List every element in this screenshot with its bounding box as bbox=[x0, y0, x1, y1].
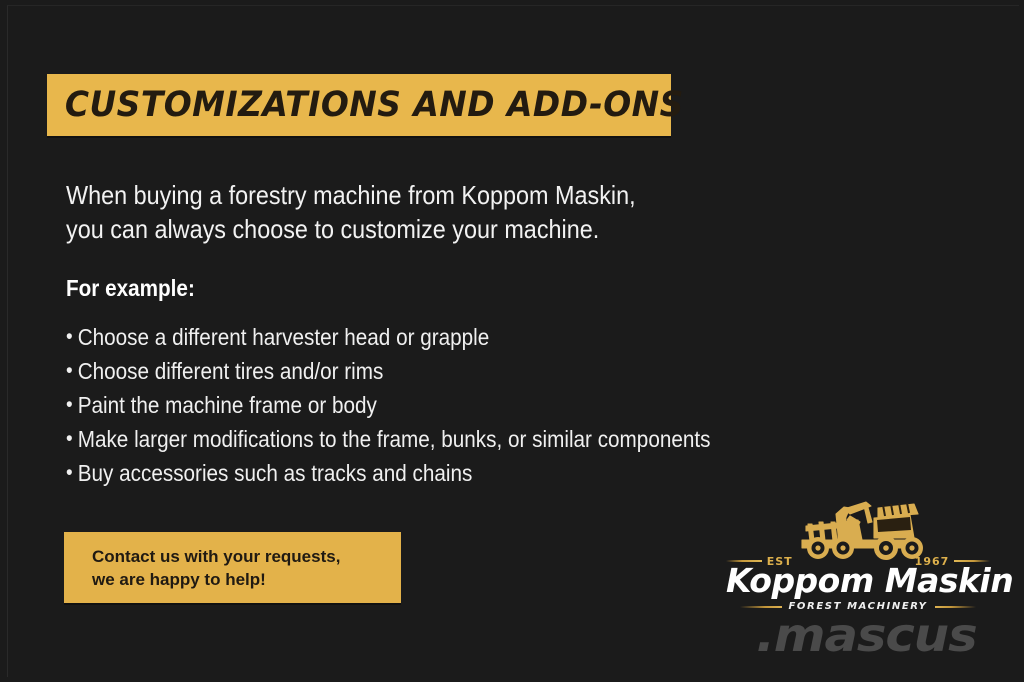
list-item: • Paint the machine frame or body bbox=[66, 388, 768, 422]
bullet-icon: • bbox=[66, 320, 73, 354]
customization-list: • Choose a different harvester head or g… bbox=[66, 320, 768, 490]
for-example-heading: For example: bbox=[66, 277, 195, 300]
intro-line-2: you can always choose to customize your … bbox=[66, 212, 714, 246]
list-item-label: Make larger modifications to the frame, … bbox=[78, 426, 711, 452]
promo-poster: CUSTOMIZATIONS AND ADD-ONS When buying a… bbox=[0, 0, 1024, 682]
contact-cta-box[interactable]: Contact us with your requests, we are ha… bbox=[64, 532, 401, 603]
list-item: • Choose a different harvester head or g… bbox=[66, 320, 768, 354]
title-banner: CUSTOMIZATIONS AND ADD-ONS bbox=[47, 74, 671, 136]
list-item-label: Buy accessories such as tracks and chain… bbox=[78, 460, 473, 486]
list-item: • Buy accessories such as tracks and cha… bbox=[66, 456, 768, 490]
mascus-watermark: .mascus bbox=[756, 612, 977, 658]
logo-wordmark: Koppom Maskin bbox=[726, 564, 990, 597]
koppom-maskin-logo: EST 1967 Koppom Maskin FOREST MACHINERY bbox=[726, 500, 990, 612]
list-item: • Choose different tires and/or rims bbox=[66, 354, 768, 388]
list-item-label: Choose different tires and/or rims bbox=[78, 358, 384, 384]
list-item-label: Paint the machine frame or body bbox=[78, 392, 377, 418]
page-title: CUSTOMIZATIONS AND ADD-ONS bbox=[47, 88, 684, 123]
list-item: • Make larger modifications to the frame… bbox=[66, 422, 768, 456]
bullet-icon: • bbox=[66, 422, 73, 456]
contact-line-2: we are happy to help! bbox=[64, 568, 401, 591]
intro-line-1: When buying a forestry machine from Kopp… bbox=[66, 178, 714, 212]
intro-paragraph: When buying a forestry machine from Kopp… bbox=[66, 178, 714, 246]
bullet-icon: • bbox=[66, 388, 73, 422]
bullet-icon: • bbox=[66, 456, 73, 490]
list-item-label: Choose a different harvester head or gra… bbox=[78, 324, 490, 350]
contact-line-1: Contact us with your requests, bbox=[64, 545, 401, 568]
bullet-icon: • bbox=[66, 354, 73, 388]
